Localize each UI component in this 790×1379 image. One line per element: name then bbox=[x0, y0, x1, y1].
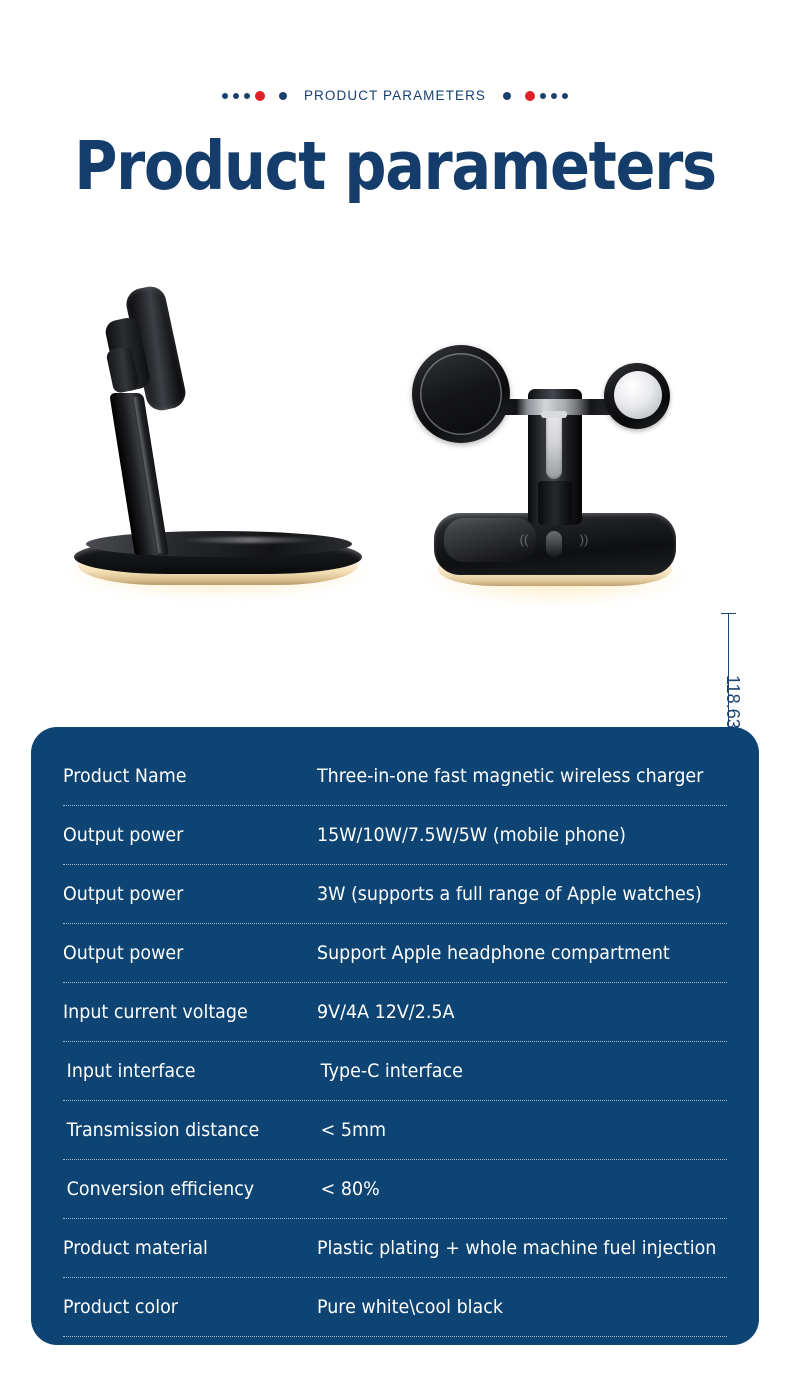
phone-magnetic-pad bbox=[412, 345, 510, 443]
table-row: Output power Support Apple headphone com… bbox=[63, 924, 727, 983]
table-row: Input interface Type-C interface bbox=[63, 1042, 727, 1101]
dot-icon bbox=[279, 92, 287, 100]
spec-key: Conversion efficiency bbox=[63, 1178, 297, 1200]
usb-c-port bbox=[546, 531, 562, 557]
spec-key: Input interface bbox=[63, 1060, 297, 1082]
spec-key: Product material bbox=[63, 1237, 297, 1259]
dot-icon bbox=[503, 92, 511, 100]
decorative-dots-left bbox=[222, 91, 287, 101]
product-side-view-image bbox=[60, 275, 380, 615]
spec-key: Output power bbox=[63, 883, 297, 905]
center-post-foot bbox=[538, 481, 572, 525]
table-row: Output power 3W (supports a full range o… bbox=[63, 865, 727, 924]
dot-icon-accent bbox=[525, 91, 535, 101]
spec-key: Product Name bbox=[63, 765, 297, 787]
product-image-stage: (( )) 124.99mm 124.97mm 118.63mm bbox=[0, 255, 790, 675]
table-row: Output power 15W/10W/7.5W/5W (mobile pho… bbox=[63, 806, 727, 865]
product-front-view-image: (( )) bbox=[408, 317, 698, 617]
spec-value: Type-C interface bbox=[317, 1060, 694, 1082]
spec-value: 15W/10W/7.5W/5W (mobile phone) bbox=[317, 824, 694, 846]
spec-key: Output power bbox=[63, 942, 297, 964]
spec-value: Support Apple headphone compartment bbox=[317, 942, 694, 964]
dot-icon bbox=[233, 93, 239, 99]
page-title: Product parameters bbox=[47, 133, 742, 200]
table-row: Product color Pure white\cool black bbox=[63, 1278, 727, 1337]
cross-bar-clip bbox=[541, 411, 567, 418]
base-top-surface bbox=[86, 531, 352, 557]
spec-value: 9V/4A 12V/2.5A bbox=[317, 1001, 694, 1023]
spec-value: Pure white\cool black bbox=[317, 1296, 694, 1318]
table-row: Product Name Three-in-one fast magnetic … bbox=[63, 747, 727, 806]
base-highlight bbox=[180, 537, 320, 543]
decorative-dots-right bbox=[503, 91, 568, 101]
dot-icon bbox=[540, 93, 546, 99]
spec-key: Product color bbox=[63, 1296, 297, 1318]
table-row: Conversion efficiency < 80% bbox=[63, 1160, 727, 1219]
wireless-coil-icon: )) bbox=[576, 533, 592, 547]
spec-value: < 5mm bbox=[317, 1119, 694, 1141]
eyebrow-header: PRODUCT PARAMETERS bbox=[0, 88, 790, 103]
spec-key: Transmission distance bbox=[63, 1119, 297, 1141]
spec-key: Output power bbox=[63, 824, 297, 846]
dot-icon bbox=[551, 93, 557, 99]
spec-value: Three-in-one fast magnetic wireless char… bbox=[317, 765, 703, 787]
dot-icon-accent bbox=[255, 91, 265, 101]
table-row: Input current voltage 9V/4A 12V/2.5A bbox=[63, 983, 727, 1042]
spec-value: < 80% bbox=[317, 1178, 694, 1200]
spec-table-panel: Product Name Three-in-one fast magnetic … bbox=[31, 727, 759, 1345]
dot-icon bbox=[244, 93, 250, 99]
eyebrow-label: PRODUCT PARAMETERS bbox=[304, 88, 486, 103]
spec-value: 3W (supports a full range of Apple watch… bbox=[317, 883, 702, 905]
table-row: Product material Plastic plating + whole… bbox=[63, 1219, 727, 1278]
product-parameters-page: PRODUCT PARAMETERS Product parameters bbox=[0, 0, 790, 1379]
dot-icon bbox=[222, 93, 228, 99]
wireless-coil-icon: (( bbox=[516, 533, 532, 547]
spec-value: Plastic plating + whole machine fuel inj… bbox=[317, 1237, 716, 1259]
table-row: Transmission distance < 5mm bbox=[63, 1101, 727, 1160]
watch-charging-pad bbox=[604, 363, 670, 429]
spec-key: Input current voltage bbox=[63, 1001, 297, 1023]
dot-icon bbox=[562, 93, 568, 99]
